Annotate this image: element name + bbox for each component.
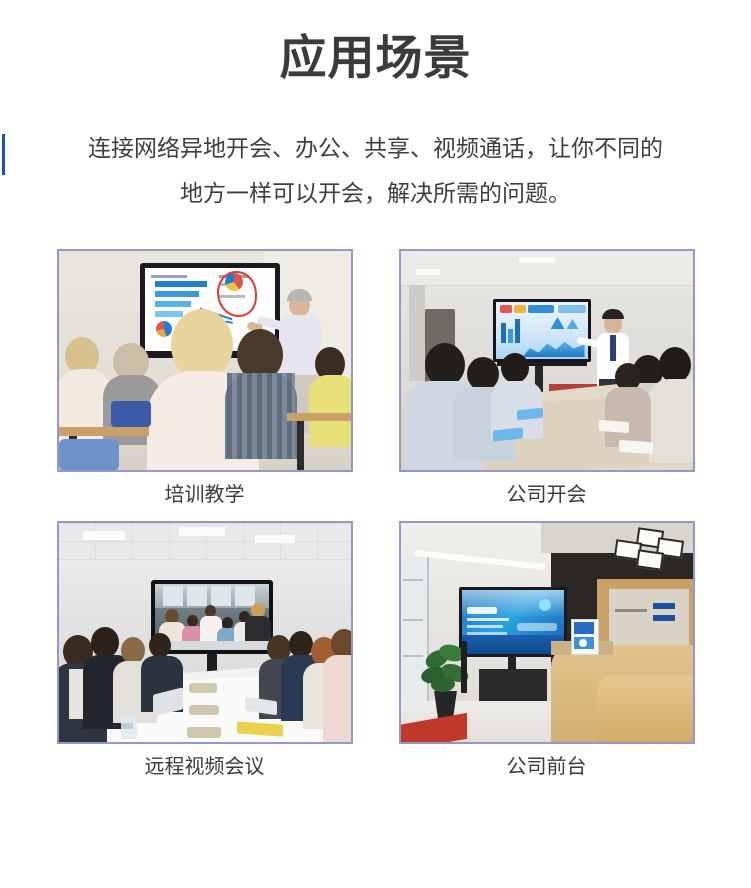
- scenario-caption: 公司开会: [399, 472, 695, 512]
- scenario-cell-reception[interactable]: 公司前台: [399, 521, 695, 784]
- classroom-training-photo: [59, 251, 351, 470]
- scenario-caption: 公司前台: [399, 744, 695, 784]
- scenario-image-frame[interactable]: [399, 249, 695, 472]
- page-subtitle: 连接网络异地开会、办公、共享、视频通话，让你不同的 地方一样可以开会，解决所需的…: [40, 126, 711, 216]
- scenario-grid: 培训教学: [0, 249, 751, 784]
- scenario-cell-training[interactable]: 培训教学: [57, 249, 353, 512]
- scenario-row-2: 远程视频会议: [0, 521, 751, 784]
- scenario-image-frame[interactable]: [399, 521, 695, 744]
- scenario-cell-company-meeting[interactable]: 公司开会: [399, 249, 695, 512]
- scenario-caption: 远程视频会议: [57, 744, 353, 784]
- company-meeting-photo: [401, 251, 693, 470]
- video-conference-photo: [59, 523, 351, 742]
- scenario-row-1: 培训教学: [0, 249, 751, 512]
- subtitle-line-2: 地方一样可以开会，解决所需的问题。: [40, 171, 711, 216]
- subtitle-line-1: 连接网络异地开会、办公、共享、视频通话，让你不同的: [40, 126, 711, 171]
- left-accent-bar: [2, 134, 5, 175]
- scenario-cell-video-conference[interactable]: 远程视频会议: [57, 521, 353, 784]
- reception-lobby-photo: [401, 523, 693, 742]
- scenario-image-frame[interactable]: [57, 249, 353, 472]
- scenario-image-frame[interactable]: [57, 521, 353, 744]
- application-scenario-page: 应用场景 连接网络异地开会、办公、共享、视频通话，让你不同的 地方一样可以开会，…: [0, 0, 751, 888]
- page-title: 应用场景: [0, 29, 751, 87]
- scenario-caption: 培训教学: [57, 472, 353, 512]
